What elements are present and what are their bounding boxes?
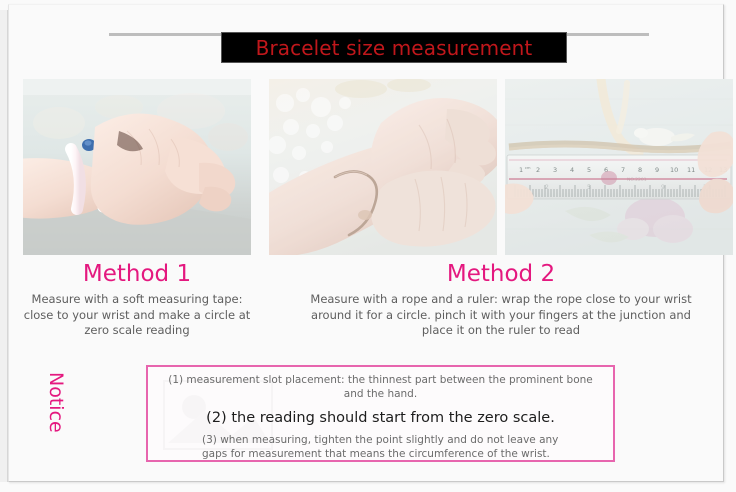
rope-on-ruler-photo: 1cm 23 45 67 89 1011 1213 25 912 NO.2201: [505, 79, 733, 255]
method-1-caption: Measure with a soft measuring tape: clos…: [17, 292, 257, 339]
page-root: Bracelet size measurement: [0, 0, 736, 492]
notice-list: (1) measurement slot placement: the thin…: [148, 367, 613, 461]
method-2-title: Method 2: [387, 263, 615, 286]
title-banner: Bracelet size measurement: [221, 32, 567, 63]
notice-box: (1) measurement slot placement: the thin…: [146, 365, 615, 462]
measuring-tape-on-wrist-photo: [23, 79, 251, 255]
page-title: Bracelet size measurement: [256, 38, 533, 58]
notice-item-2: (2) the reading should start from the ze…: [164, 408, 597, 428]
method-1-title: Method 1: [23, 263, 251, 286]
page-left-gutter: [0, 10, 8, 482]
method-2-caption: Measure with a rope and a ruler: wrap th…: [301, 292, 701, 339]
content-sheet: Bracelet size measurement: [8, 4, 724, 482]
notice-item-1: (1) measurement slot placement: the thin…: [164, 373, 597, 401]
notice-item-3: (3) when measuring, tighten the point sl…: [164, 433, 597, 461]
rope-on-wrist-photo: [269, 79, 497, 255]
notice-label: Notice: [45, 372, 67, 462]
